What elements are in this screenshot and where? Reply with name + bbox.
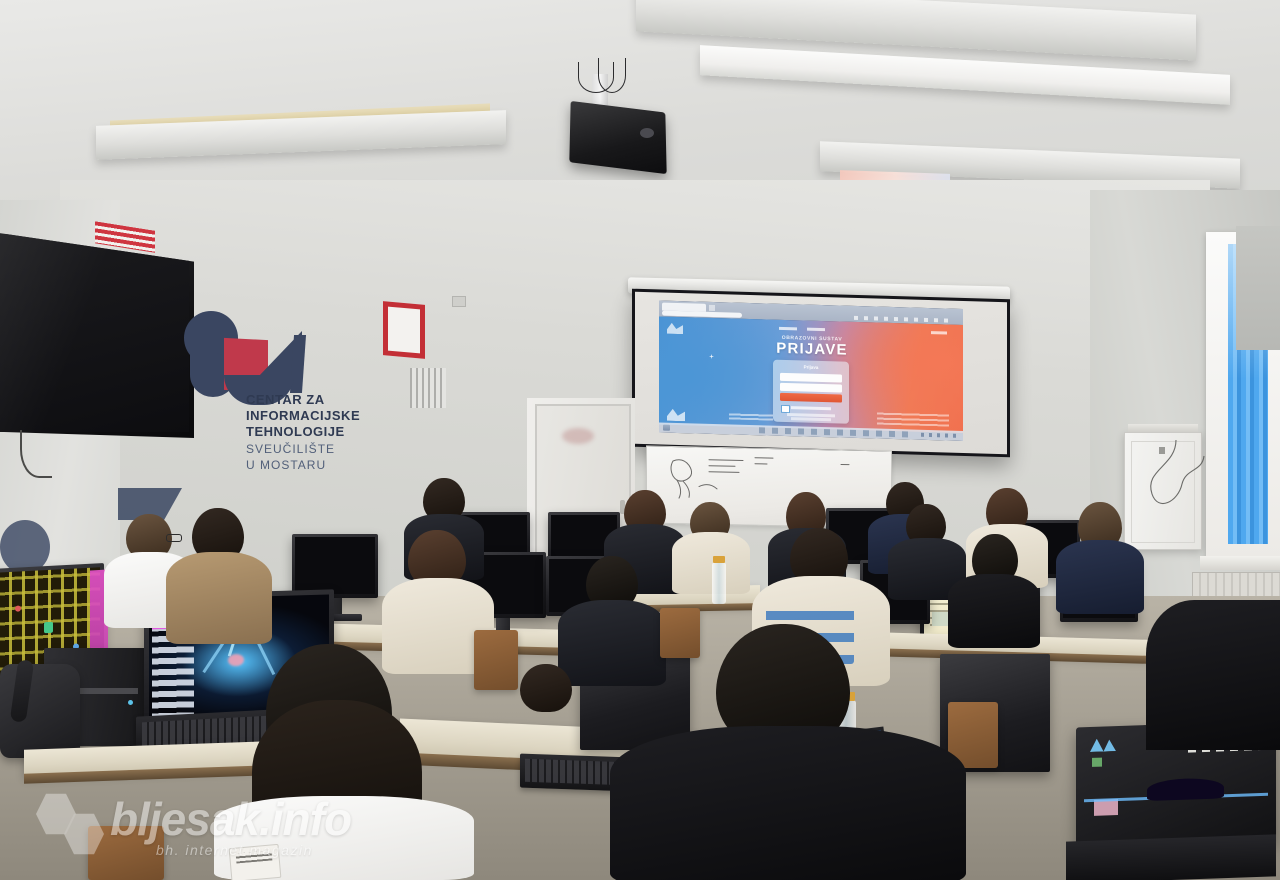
watermark-brand: bljesak.info — [110, 792, 351, 846]
person-head — [520, 664, 572, 712]
logo-line-1: CENTAR ZA — [246, 393, 325, 408]
cit-logo: CENTAR ZA INFORMACIJSKE TEHNOLOGIJE SVEU… — [180, 305, 340, 480]
footer-right-text — [877, 411, 949, 427]
person-body — [166, 552, 272, 644]
login-card: Prijava — [773, 360, 849, 424]
nav-item-login[interactable] — [931, 331, 947, 334]
decor-sparkle — [709, 354, 714, 359]
laptop-icon-small[interactable] — [1092, 758, 1102, 767]
person-body-foreground — [610, 726, 966, 880]
logo-line-4: SVEUČILIŠTE — [246, 443, 335, 457]
footer-left-text — [729, 412, 773, 420]
cabinet-cable — [1130, 436, 1210, 526]
water-bottle — [712, 562, 726, 604]
window-sill — [1200, 556, 1280, 570]
submit-button[interactable] — [780, 393, 842, 403]
classroom-photo: CENTAR ZA INFORMACIJSKE TEHNOLOGIJE SVEU… — [0, 0, 1280, 880]
projection-screen[interactable]: OBRAZOVNI SUSTAV PRIJAVE Prijava — [632, 289, 1010, 458]
door-smudge — [562, 428, 594, 444]
password-input[interactable] — [780, 383, 842, 393]
watermark-tagline: bh. internet magazin — [156, 842, 313, 858]
page-heading: PRIJAVE — [757, 339, 867, 359]
chair — [660, 608, 700, 658]
person-body — [558, 600, 666, 686]
chair — [474, 630, 518, 690]
site-logo-icon — [667, 323, 683, 334]
projected-screen-content: OBRAZOVNI SUSTAV PRIJAVE Prijava — [659, 300, 963, 440]
bottle-cap — [713, 556, 725, 563]
person-body — [672, 532, 750, 594]
taskbar-tray[interactable] — [921, 433, 959, 438]
game-sprite — [44, 622, 53, 633]
footer-logo-icon — [667, 409, 685, 422]
wall-sensor — [452, 296, 466, 307]
remember-me-label — [791, 406, 831, 410]
person-body — [948, 574, 1040, 648]
logo-line-3: TEHNOLOGIJE — [246, 425, 345, 440]
wall-tv — [0, 228, 194, 438]
remember-me-checkbox[interactable] — [781, 405, 790, 413]
cabinet-top-strip — [1128, 424, 1198, 432]
watermark: bljesak.info bh. internet magazin — [36, 786, 356, 864]
tower-power-led — [128, 700, 133, 705]
glasses-icon — [166, 534, 182, 542]
ceiling-projector — [569, 101, 666, 174]
nav-item-home[interactable] — [779, 327, 797, 331]
browser-new-tab-button[interactable] — [709, 305, 715, 311]
username-input[interactable] — [780, 373, 842, 383]
wallpaper-island — [1147, 778, 1224, 802]
logo-line-2: INFORMACIJSKE — [246, 409, 360, 424]
projector-lens — [640, 128, 654, 138]
laptop-keyboard[interactable] — [1066, 834, 1276, 880]
right-wall-board — [1236, 226, 1280, 350]
wall-vent — [410, 368, 446, 408]
game-sprite — [15, 605, 21, 611]
person-body — [1146, 600, 1280, 750]
taskbar-start-button[interactable] — [663, 425, 670, 431]
login-page-background: OBRAZOVNI SUSTAV PRIJAVE Prijava — [659, 316, 963, 432]
help-link[interactable] — [791, 417, 831, 421]
taskbar-icons[interactable] — [759, 427, 909, 437]
laptop-logo-icon — [1090, 738, 1116, 752]
fire-sign — [383, 301, 425, 359]
person-body — [1056, 540, 1144, 614]
nav-item-help[interactable] — [807, 328, 825, 332]
wallpaper-core — [228, 654, 244, 666]
logo-line-5: U MOSTARU — [246, 459, 326, 473]
login-card-title: Prijava — [773, 364, 849, 371]
monitor — [292, 534, 378, 598]
projector-cable — [598, 58, 626, 93]
